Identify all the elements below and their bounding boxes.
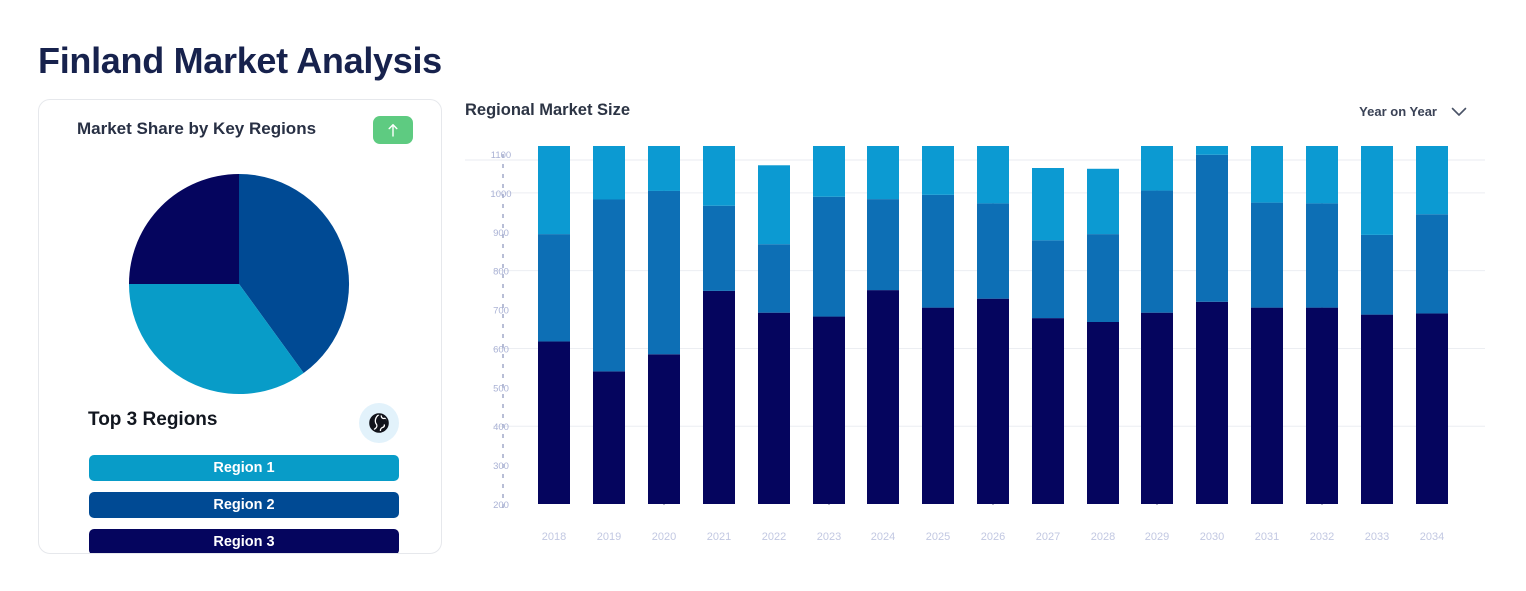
bar-segment <box>1361 315 1393 504</box>
dashboard-page: Finland Market Analysis Market Share by … <box>0 0 1526 591</box>
bar-segment <box>758 244 790 312</box>
bar-group <box>1361 146 1393 504</box>
x-axis-tick-label: 2025 <box>926 531 950 543</box>
bar-segment <box>1087 234 1119 322</box>
bar-group <box>703 146 735 504</box>
bar-group <box>593 146 625 504</box>
bar-segment <box>1251 203 1283 308</box>
bar-group <box>1087 169 1119 504</box>
bar-group <box>538 146 570 504</box>
bar-group <box>1416 146 1448 504</box>
y-axis-tick-label: 200 <box>493 500 509 511</box>
bar-segment <box>703 291 735 504</box>
bar-segment <box>538 341 570 504</box>
bar-group <box>1251 146 1283 504</box>
bar-segment <box>813 197 845 317</box>
y-axis-tick-label: 900 <box>493 228 509 239</box>
chevron-down-icon <box>1451 107 1467 117</box>
upload-button[interactable] <box>373 116 413 144</box>
top-regions-title: Top 3 Regions <box>88 409 217 431</box>
bar-segment <box>977 299 1009 504</box>
bar-segment <box>867 199 899 290</box>
bar-segment <box>1032 318 1064 504</box>
bar-segment <box>1361 235 1393 315</box>
bar-segment <box>758 165 790 244</box>
bar-segment <box>593 371 625 504</box>
bar-segment <box>1306 146 1338 203</box>
region-pill-2[interactable]: Region 2 <box>89 492 399 518</box>
bar-segment <box>1032 168 1064 240</box>
bar-segment <box>1306 308 1338 504</box>
x-axis-tick-label: 2027 <box>1036 531 1060 543</box>
x-axis-tick-label: 2028 <box>1091 531 1115 543</box>
top-regions-list: Region 1 Region 2 Region 3 <box>89 455 399 554</box>
globe-badge[interactable] <box>359 403 399 443</box>
x-axis-tick-label: 2031 <box>1255 531 1279 543</box>
x-axis-tick-label: 2026 <box>981 531 1005 543</box>
stacked-bar-chart: 2003004005006007008009001000110020182019… <box>465 146 1485 556</box>
x-axis-tick-label: 2030 <box>1200 531 1224 543</box>
x-axis-tick-label: 2021 <box>707 531 731 543</box>
bar-segment <box>703 146 735 206</box>
globe-icon <box>368 412 390 434</box>
bar-segment <box>538 146 570 234</box>
bar-group <box>1306 146 1338 504</box>
y-axis-tick-label: 1100 <box>491 150 511 161</box>
region-pill-label: Region 2 <box>213 497 274 513</box>
bar-segment <box>1306 203 1338 307</box>
top-regions-row: Top 3 Regions <box>39 400 441 452</box>
bar-segment <box>758 313 790 504</box>
y-axis-tick-label: 800 <box>493 267 509 278</box>
bar-group <box>813 146 845 504</box>
y-axis-tick-label: 1000 <box>490 189 511 200</box>
year-on-year-dropdown[interactable]: Year on Year <box>1359 104 1467 119</box>
bar-segment <box>867 290 899 504</box>
x-axis-tick-label: 2019 <box>597 531 621 543</box>
x-axis-tick-label: 2032 <box>1310 531 1334 543</box>
x-axis-tick-label: 2034 <box>1420 531 1444 543</box>
chart-title: Regional Market Size <box>465 101 630 120</box>
bar-segment <box>538 234 570 341</box>
bar-segment <box>922 308 954 504</box>
bar-group <box>1032 168 1064 504</box>
bar-segment <box>1032 240 1064 318</box>
card-header: Market Share by Key Regions <box>39 100 441 162</box>
bar-group <box>648 146 680 504</box>
bar-group <box>1141 146 1173 504</box>
dropdown-label: Year on Year <box>1359 104 1437 119</box>
bar-segment <box>593 146 625 200</box>
bar-segment <box>1141 146 1173 191</box>
y-axis-tick-label: 500 <box>493 383 509 394</box>
bar-segment <box>1087 169 1119 234</box>
bar-segment <box>593 200 625 372</box>
region-pill-label: Region 1 <box>213 460 274 476</box>
region-pill-3[interactable]: Region 3 <box>89 529 399 554</box>
bar-segment <box>1251 146 1283 203</box>
bar-segment <box>1361 146 1393 235</box>
y-axis-tick-label: 300 <box>493 461 509 472</box>
x-axis-tick-label: 2024 <box>871 531 895 543</box>
bar-segment <box>1087 322 1119 504</box>
x-axis-tick-label: 2022 <box>762 531 786 543</box>
bar-segment <box>1196 146 1228 155</box>
bar-segment <box>813 146 845 197</box>
bar-group <box>922 146 954 504</box>
bar-segment <box>1416 146 1448 214</box>
bar-segment <box>977 146 1009 203</box>
bar-group <box>758 165 790 504</box>
x-axis-tick-label: 2020 <box>652 531 676 543</box>
card-title: Market Share by Key Regions <box>77 119 316 139</box>
bar-segment <box>1196 302 1228 504</box>
bar-segment <box>867 146 899 199</box>
bar-segment <box>922 146 954 195</box>
market-share-pie-chart <box>125 170 353 398</box>
bar-segment <box>1196 155 1228 302</box>
bar-segment <box>813 317 845 504</box>
bar-group <box>977 146 1009 504</box>
x-axis-tick-label: 2029 <box>1145 531 1169 543</box>
x-axis-tick-label: 2033 <box>1365 531 1389 543</box>
bar-segment <box>1141 313 1173 504</box>
region-pill-label: Region 3 <box>213 534 274 550</box>
bar-segment <box>1141 191 1173 313</box>
bar-segment <box>1251 308 1283 504</box>
y-axis-tick-label: 700 <box>493 306 509 317</box>
market-share-card: Market Share by Key Regions <box>38 99 442 554</box>
y-axis-tick-label: 600 <box>493 344 509 355</box>
x-axis-tick-label: 2018 <box>542 531 566 543</box>
region-pill-1[interactable]: Region 1 <box>89 455 399 481</box>
y-axis-tick-label: 400 <box>493 422 509 433</box>
bar-group <box>867 146 899 504</box>
x-axis-tick-label: 2023 <box>817 531 841 543</box>
arrow-up-icon <box>386 122 400 138</box>
page-title: Finland Market Analysis <box>38 40 442 82</box>
bar-segment <box>648 191 680 354</box>
bar-segment <box>977 203 1009 298</box>
regional-market-size-panel: Regional Market Size Year on Year 200300… <box>465 96 1485 556</box>
pie-slice-region-3 <box>129 174 239 284</box>
bar-segment <box>1416 313 1448 504</box>
bar-segment <box>648 354 680 504</box>
bar-group <box>1196 146 1228 504</box>
bar-segment <box>703 206 735 291</box>
bar-segment <box>922 195 954 308</box>
bar-segment <box>1416 214 1448 313</box>
bar-segment <box>648 146 680 191</box>
